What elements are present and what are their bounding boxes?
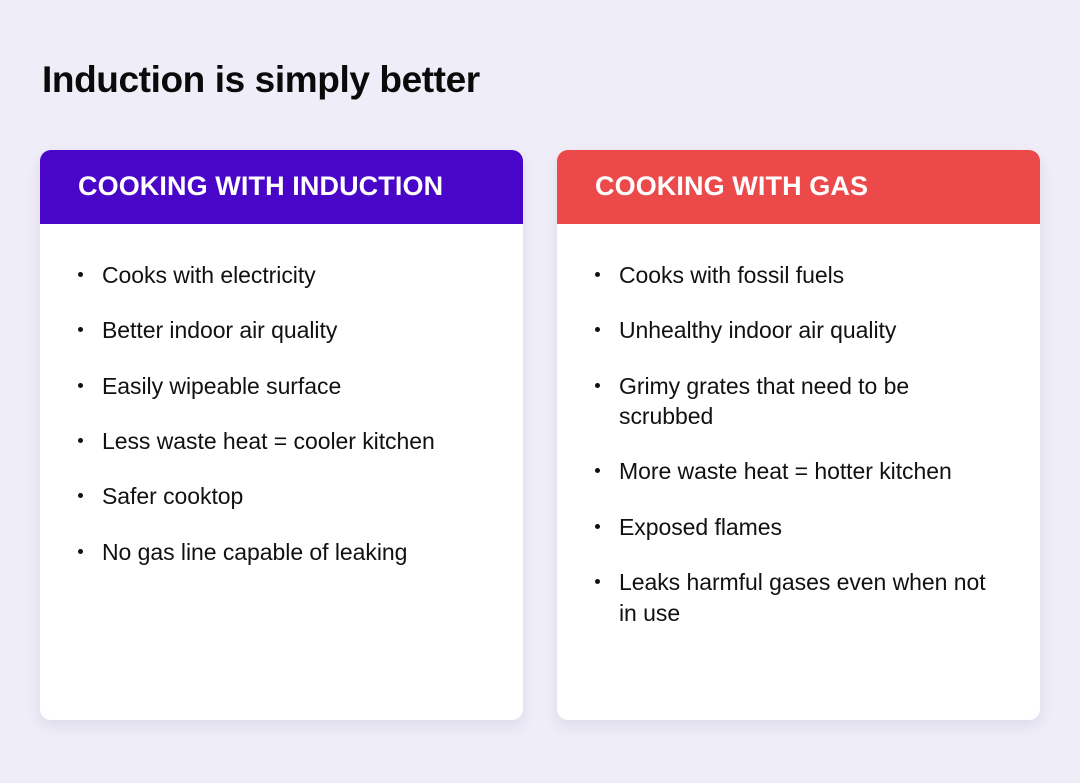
list-item: Unhealthy indoor air quality	[593, 315, 1006, 345]
card-body-induction: Cooks with electricity Better indoor air…	[40, 224, 523, 720]
bullet-dot-icon	[595, 327, 600, 332]
bullet-dot-icon	[78, 272, 83, 277]
list-item-label: Leaks harmful gases even when not in use	[619, 569, 986, 625]
card-cooking-with-induction: COOKING WITH INDUCTION Cooks with electr…	[40, 150, 523, 720]
list-item-label: Safer cooktop	[102, 483, 243, 509]
bullet-dot-icon	[78, 493, 83, 498]
card-header-title-induction: COOKING WITH INDUCTION	[78, 172, 443, 202]
list-item-label: Better indoor air quality	[102, 317, 337, 343]
list-item-label: No gas line capable of leaking	[102, 539, 407, 565]
comparison-cards-row: COOKING WITH INDUCTION Cooks with electr…	[40, 150, 1040, 720]
bullet-dot-icon	[595, 524, 600, 529]
bullet-dot-icon	[78, 549, 83, 554]
bullet-dot-icon	[595, 383, 600, 388]
list-item: Grimy grates that need to be scrubbed	[593, 371, 1006, 432]
card-body-gas: Cooks with fossil fuels Unhealthy indoor…	[557, 224, 1040, 720]
list-item: Leaks harmful gases even when not in use	[593, 567, 1006, 628]
list-item-label: Grimy grates that need to be scrubbed	[619, 373, 909, 429]
list-item-label: Unhealthy indoor air quality	[619, 317, 896, 343]
bullet-dot-icon	[78, 327, 83, 332]
list-item: Easily wipeable surface	[76, 371, 489, 401]
list-item: Cooks with fossil fuels	[593, 260, 1006, 290]
list-item: Cooks with electricity	[76, 260, 489, 290]
bullet-dot-icon	[78, 438, 83, 443]
list-item-label: Exposed flames	[619, 514, 782, 540]
list-item-label: Cooks with electricity	[102, 262, 316, 288]
bullet-dot-icon	[595, 272, 600, 277]
list-item: No gas line capable of leaking	[76, 537, 489, 567]
page-title: Induction is simply better	[42, 58, 480, 102]
list-item-label: Cooks with fossil fuels	[619, 262, 844, 288]
gas-drawback-list: Cooks with fossil fuels Unhealthy indoor…	[593, 260, 1006, 628]
bullet-dot-icon	[595, 579, 600, 584]
list-item: Exposed flames	[593, 512, 1006, 542]
list-item-label: Easily wipeable surface	[102, 373, 341, 399]
list-item: Less waste heat = cooler kitchen	[76, 426, 489, 456]
bullet-dot-icon	[78, 383, 83, 388]
list-item: Safer cooktop	[76, 481, 489, 511]
list-item: Better indoor air quality	[76, 315, 489, 345]
list-item-label: Less waste heat = cooler kitchen	[102, 428, 435, 454]
bullet-dot-icon	[595, 468, 600, 473]
card-cooking-with-gas: COOKING WITH GAS Cooks with fossil fuels…	[557, 150, 1040, 720]
card-header-gas: COOKING WITH GAS	[557, 150, 1040, 224]
card-header-title-gas: COOKING WITH GAS	[595, 172, 868, 202]
list-item: More waste heat = hotter kitchen	[593, 456, 1006, 486]
list-item-label: More waste heat = hotter kitchen	[619, 458, 952, 484]
induction-benefit-list: Cooks with electricity Better indoor air…	[76, 260, 489, 567]
card-header-induction: COOKING WITH INDUCTION	[40, 150, 523, 224]
